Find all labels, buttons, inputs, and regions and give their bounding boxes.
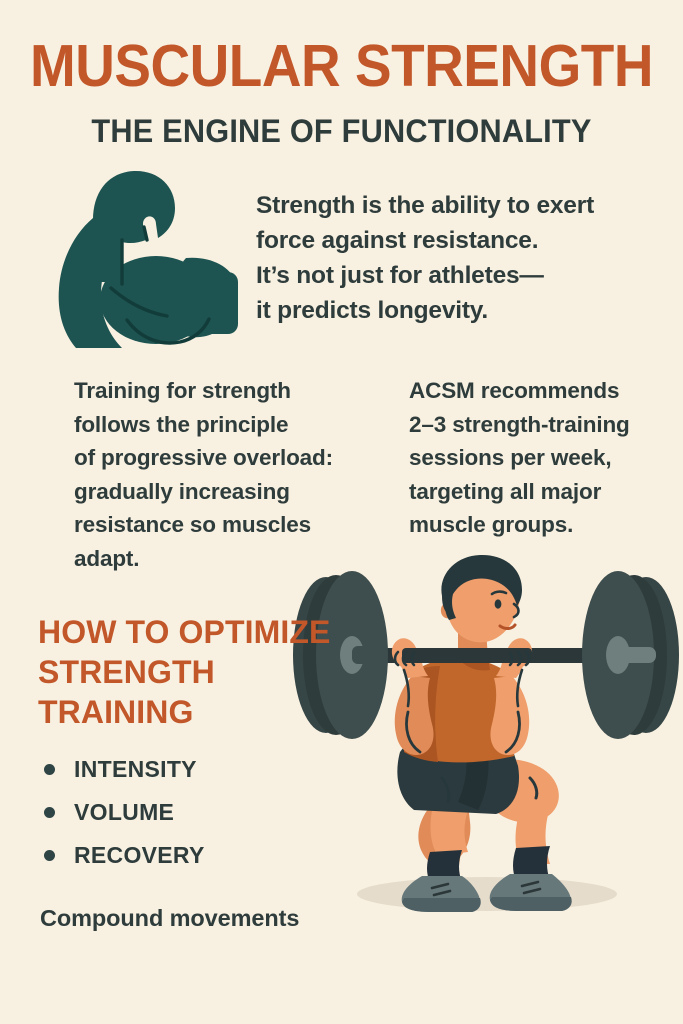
intro-line: it predicts longevity. — [256, 293, 656, 328]
column-line: Training for strength — [74, 374, 374, 408]
column-line: follows the principle — [74, 408, 374, 442]
intro-paragraph: Strength is the ability to exert force a… — [256, 188, 656, 328]
barbell-squat-illustration — [282, 552, 683, 924]
section-heading-optimize: HOW TO OPTIMIZE STRENGTH TRAINING — [38, 612, 328, 732]
list-item: INTENSITY — [38, 748, 338, 791]
intro-line: Strength is the ability to exert — [256, 188, 656, 223]
section-heading-line: TRAINING — [38, 692, 328, 732]
bullet-dot-icon — [44, 764, 55, 775]
column-progressive-overload: Training for strength follows the princi… — [74, 374, 374, 575]
column-line: sessions per week, — [409, 441, 683, 475]
column-line: targeting all major — [409, 475, 683, 509]
infographic-poster: MUSCULAR STRENGTH THE ENGINE OF FUNCTION… — [0, 0, 683, 1024]
compound-movements-note: Compound movements — [40, 902, 299, 934]
bullet-dot-icon — [44, 807, 55, 818]
optimize-bullet-list: INTENSITY VOLUME RECOVERY — [38, 748, 338, 877]
bullet-label: INTENSITY — [74, 756, 197, 783]
column-line: muscle groups. — [409, 508, 683, 542]
bullet-label: RECOVERY — [74, 842, 205, 869]
bullet-label: VOLUME — [74, 799, 174, 826]
column-line: 2–3 strength-training — [409, 408, 683, 442]
column-line: of progressive overload: — [74, 441, 374, 475]
column-line: gradually increasing — [74, 475, 374, 509]
section-heading-line: HOW TO OPTIMIZE — [38, 612, 328, 652]
intro-line: force against resistance. — [256, 223, 656, 258]
column-acsm-recommendation: ACSM recommends 2–3 strength-training se… — [409, 374, 683, 542]
bullet-dot-icon — [44, 850, 55, 861]
flexed-bicep-icon — [34, 162, 249, 352]
section-heading-line: STRENGTH — [38, 652, 328, 692]
list-item: VOLUME — [38, 791, 338, 834]
column-line: ACSM recommends — [409, 374, 683, 408]
column-line: resistance so muscles — [74, 508, 374, 542]
list-item: RECOVERY — [38, 834, 338, 877]
intro-line: It’s not just for athletes— — [256, 258, 656, 293]
page-title: MUSCULAR STRENGTH — [24, 36, 659, 96]
page-subtitle: THE ENGINE OF FUNCTIONALITY — [14, 112, 670, 150]
